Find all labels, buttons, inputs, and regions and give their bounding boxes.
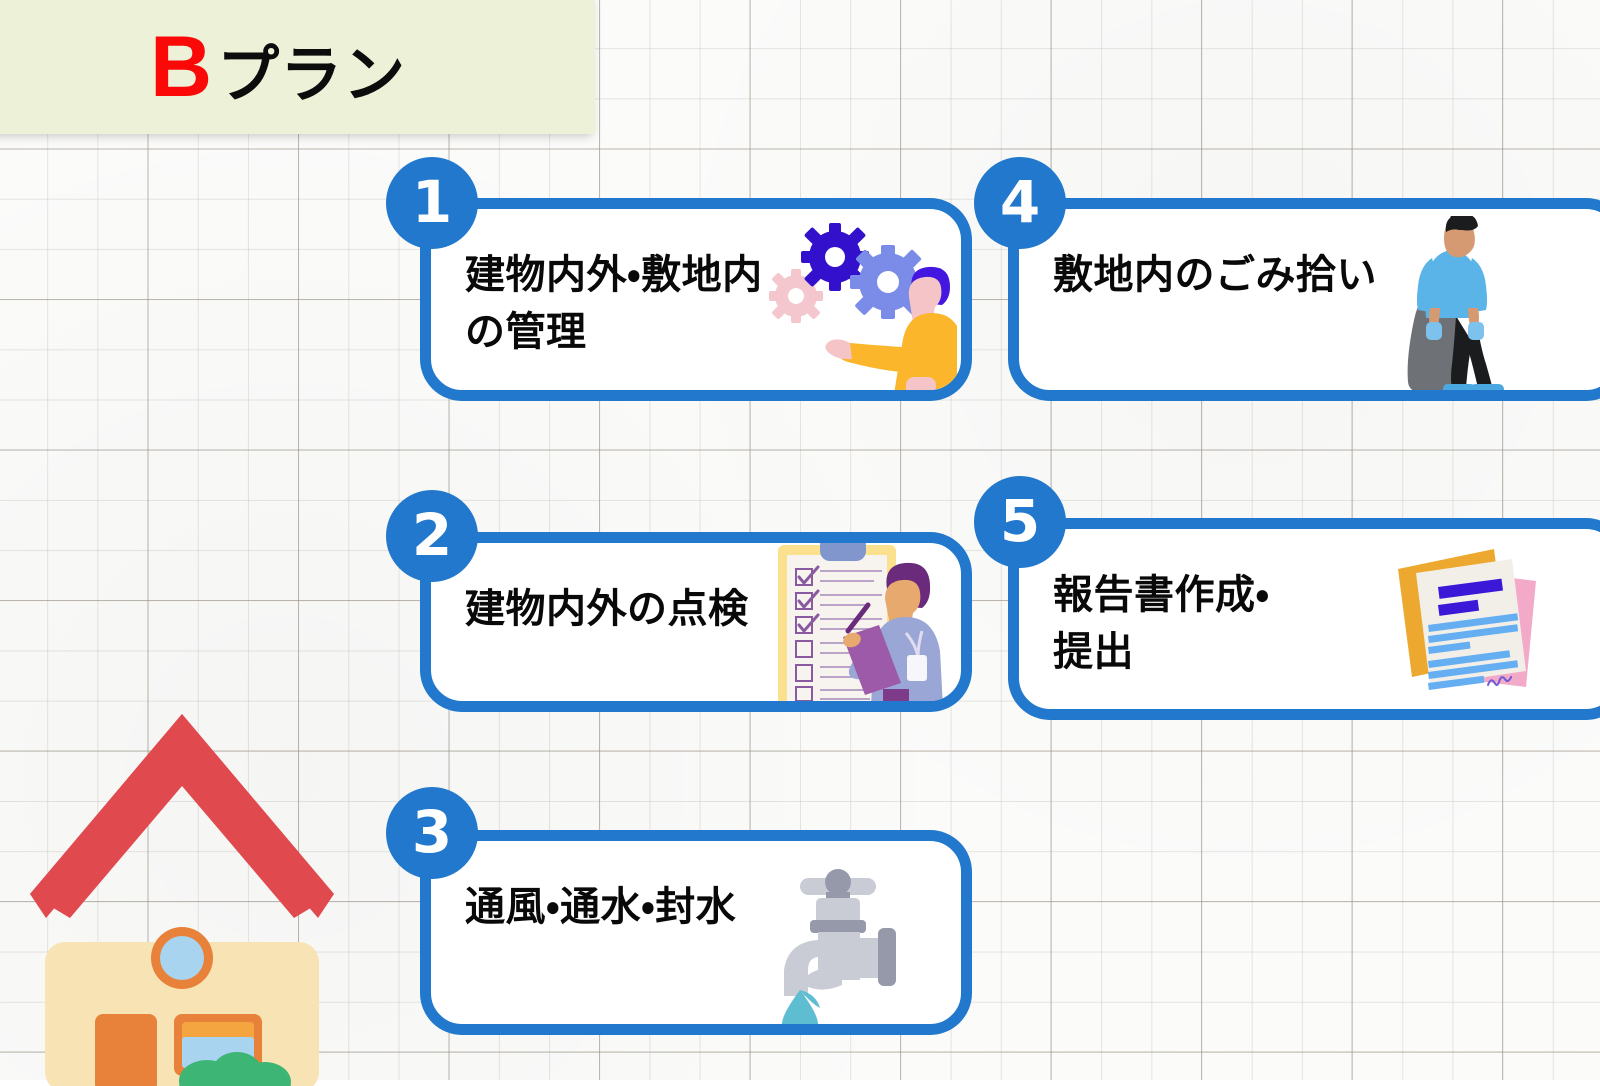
clipboard-inspector-icon <box>770 532 955 707</box>
card-5-label: 報告書作成・ 提出 <box>1053 567 1270 681</box>
card-4[interactable]: 敷地内のごみ拾い <box>1008 198 1600 401</box>
infographic-canvas: B プラン 建物内外・敷地内 の管理 <box>0 0 1600 1080</box>
card-3-number-badge: 3 <box>386 787 478 879</box>
person-trashbag-icon <box>1394 216 1539 396</box>
card-1-label: 建物内外・敷地内 の管理 <box>465 247 763 361</box>
page-title: B プラン <box>150 24 406 110</box>
card-4-label: 敷地内のごみ拾い <box>1053 247 1377 304</box>
card-1[interactable]: 建物内外・敷地内 の管理 <box>420 198 972 401</box>
plan-letter: B <box>150 24 211 110</box>
plan-word: プラン <box>217 44 406 106</box>
card-4-number-badge: 4 <box>974 157 1066 249</box>
faucet-waterdrop-icon <box>756 842 916 1032</box>
house-icon <box>22 706 342 1086</box>
gears-person-icon <box>762 219 957 394</box>
card-2-label: 建物内外の点検 <box>465 581 749 638</box>
header-banner: B プラン <box>0 0 595 134</box>
card-1-number-badge: 1 <box>386 157 478 249</box>
report-document-icon <box>1382 537 1547 702</box>
card-2-number-badge: 2 <box>386 490 478 582</box>
card-3-label: 通風・通水・封水 <box>465 879 736 936</box>
card-5-number-badge: 5 <box>974 476 1066 568</box>
card-5[interactable]: 報告書作成・ 提出 <box>1008 518 1600 720</box>
card-3[interactable]: 通風・通水・封水 <box>420 830 972 1035</box>
card-2[interactable]: 建物内外の点検 <box>420 532 972 712</box>
